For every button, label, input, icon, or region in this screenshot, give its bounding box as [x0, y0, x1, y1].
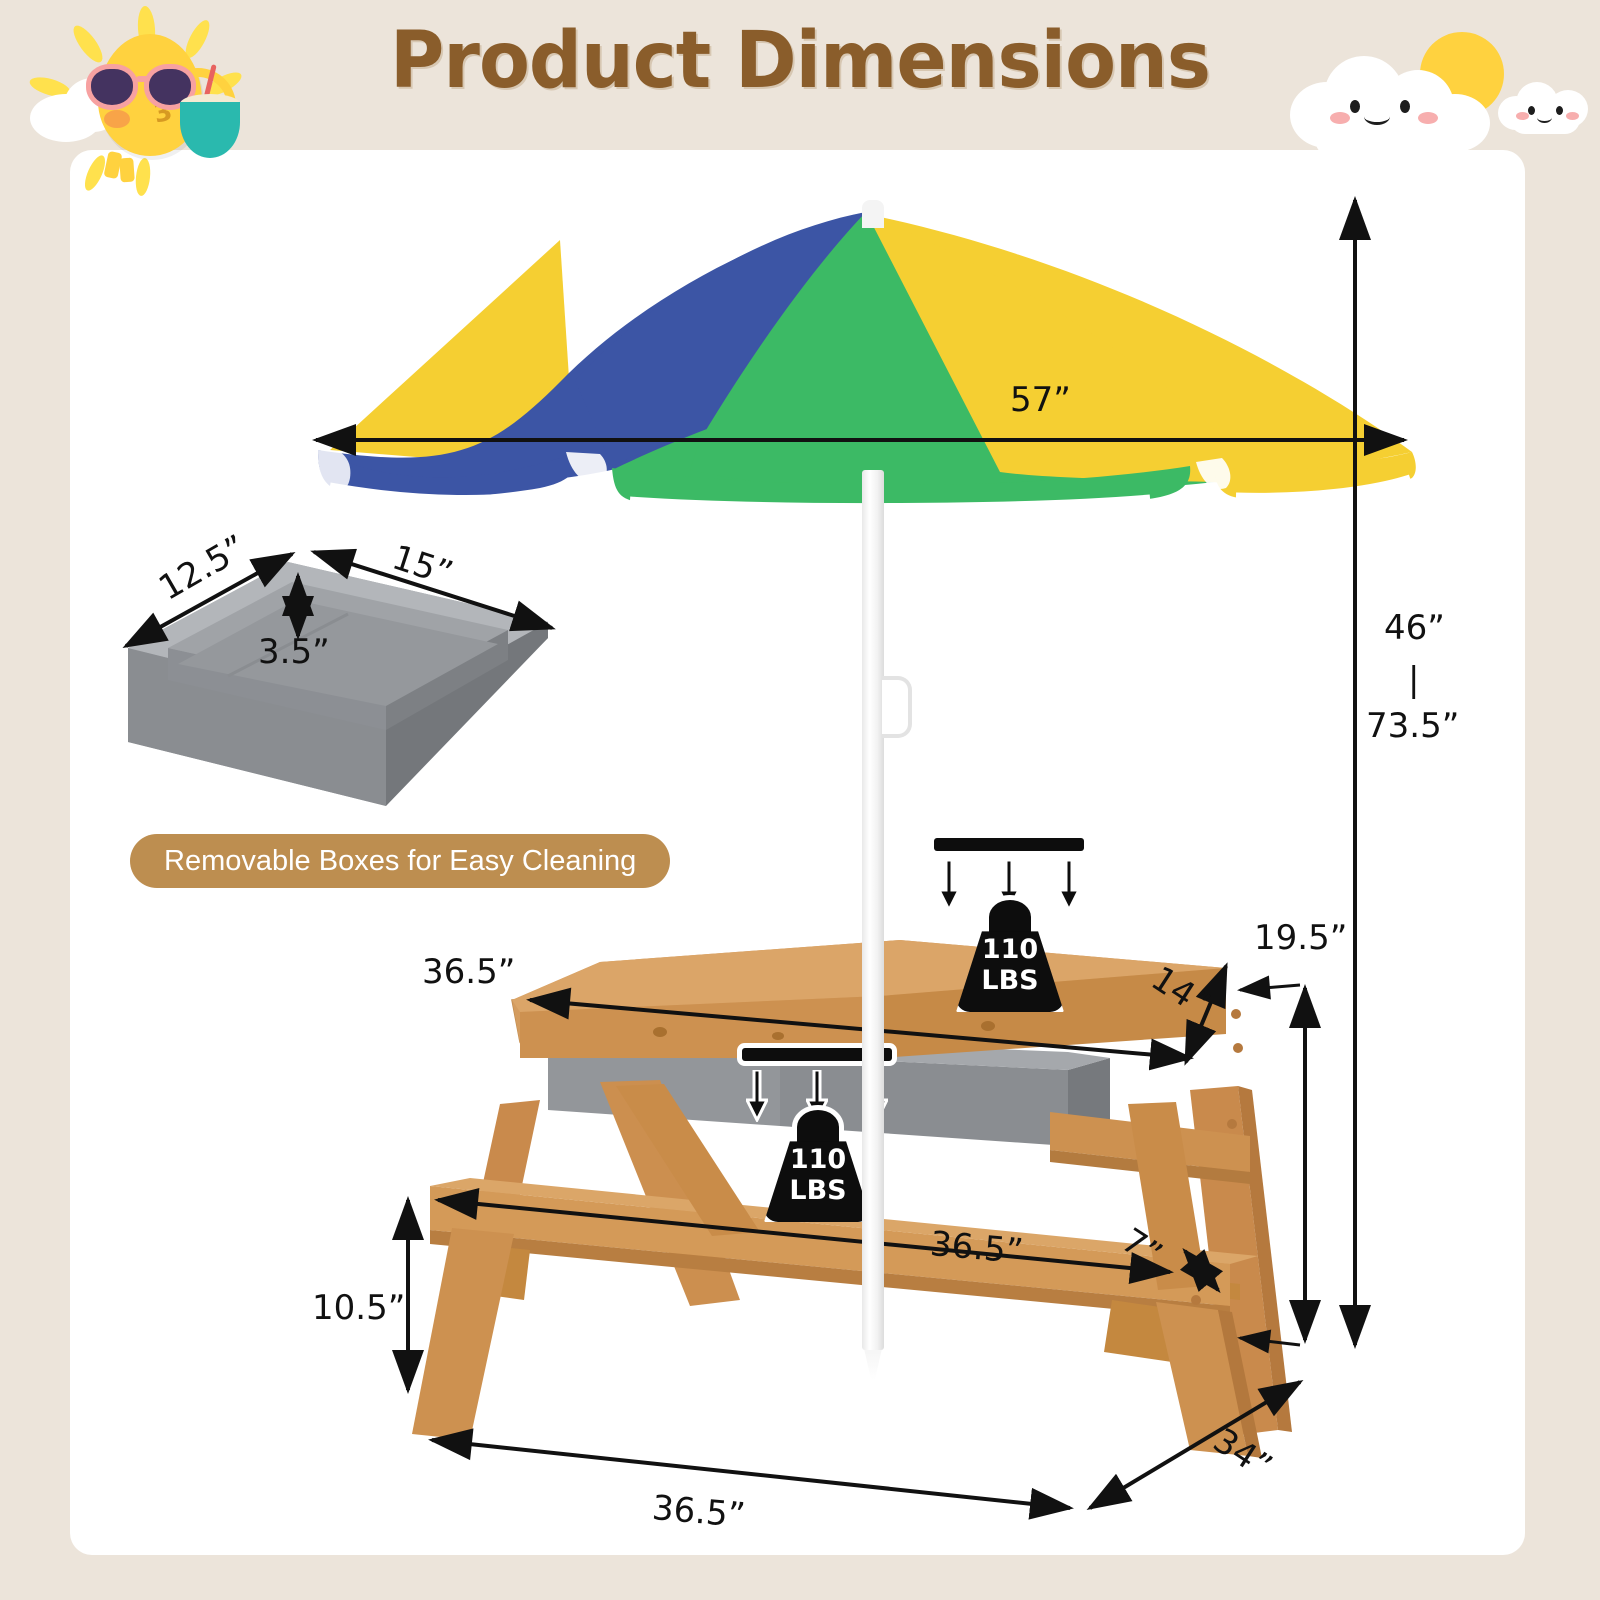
weight-value: 110 [790, 1144, 846, 1175]
load-bar-icon [934, 838, 1084, 851]
dim-bench-length: 36.5” [928, 1224, 1024, 1272]
weight-handle-icon [797, 1110, 839, 1144]
dim-total-height-max: 73.5” [1366, 706, 1459, 746]
dim-total-height-separator: | [1408, 660, 1419, 700]
weight-capacity-label: 110 LBS [764, 1144, 872, 1206]
dim-box-height: 3.5” [258, 632, 330, 672]
product-dimensions-infographic: Product Dimensions 3 [0, 0, 1600, 1600]
smiling-cloud-icon [1290, 56, 1490, 156]
weight-unit: LBS [981, 965, 1038, 996]
sun-with-sunglasses-icon: 3 [20, 6, 280, 196]
umbrella-pole [862, 470, 884, 1350]
dim-tabletop-length: 36.5” [422, 952, 515, 992]
smiling-cloud-small-icon [1498, 82, 1590, 134]
weight-unit: LBS [789, 1175, 846, 1206]
removable-boxes-badge: Removable Boxes for Easy Cleaning [130, 834, 670, 888]
down-arrow-icon [938, 860, 960, 912]
down-arrow-icon [1058, 860, 1080, 912]
dim-table-height: 19.5” [1254, 918, 1347, 958]
umbrella-height-adjuster [882, 676, 912, 738]
weight-handle-icon [989, 900, 1031, 934]
dim-base-length: 36.5” [650, 1488, 746, 1536]
weight-capacity-label: 110 LBS [956, 934, 1064, 996]
umbrella-finial [862, 200, 884, 228]
down-arrow-icon [746, 1070, 768, 1122]
weight-value: 110 [982, 934, 1038, 965]
dim-umbrella-diameter: 57” [1010, 380, 1071, 420]
dim-total-height-min: 46” [1384, 608, 1445, 648]
dim-bench-height: 10.5” [312, 1288, 405, 1328]
